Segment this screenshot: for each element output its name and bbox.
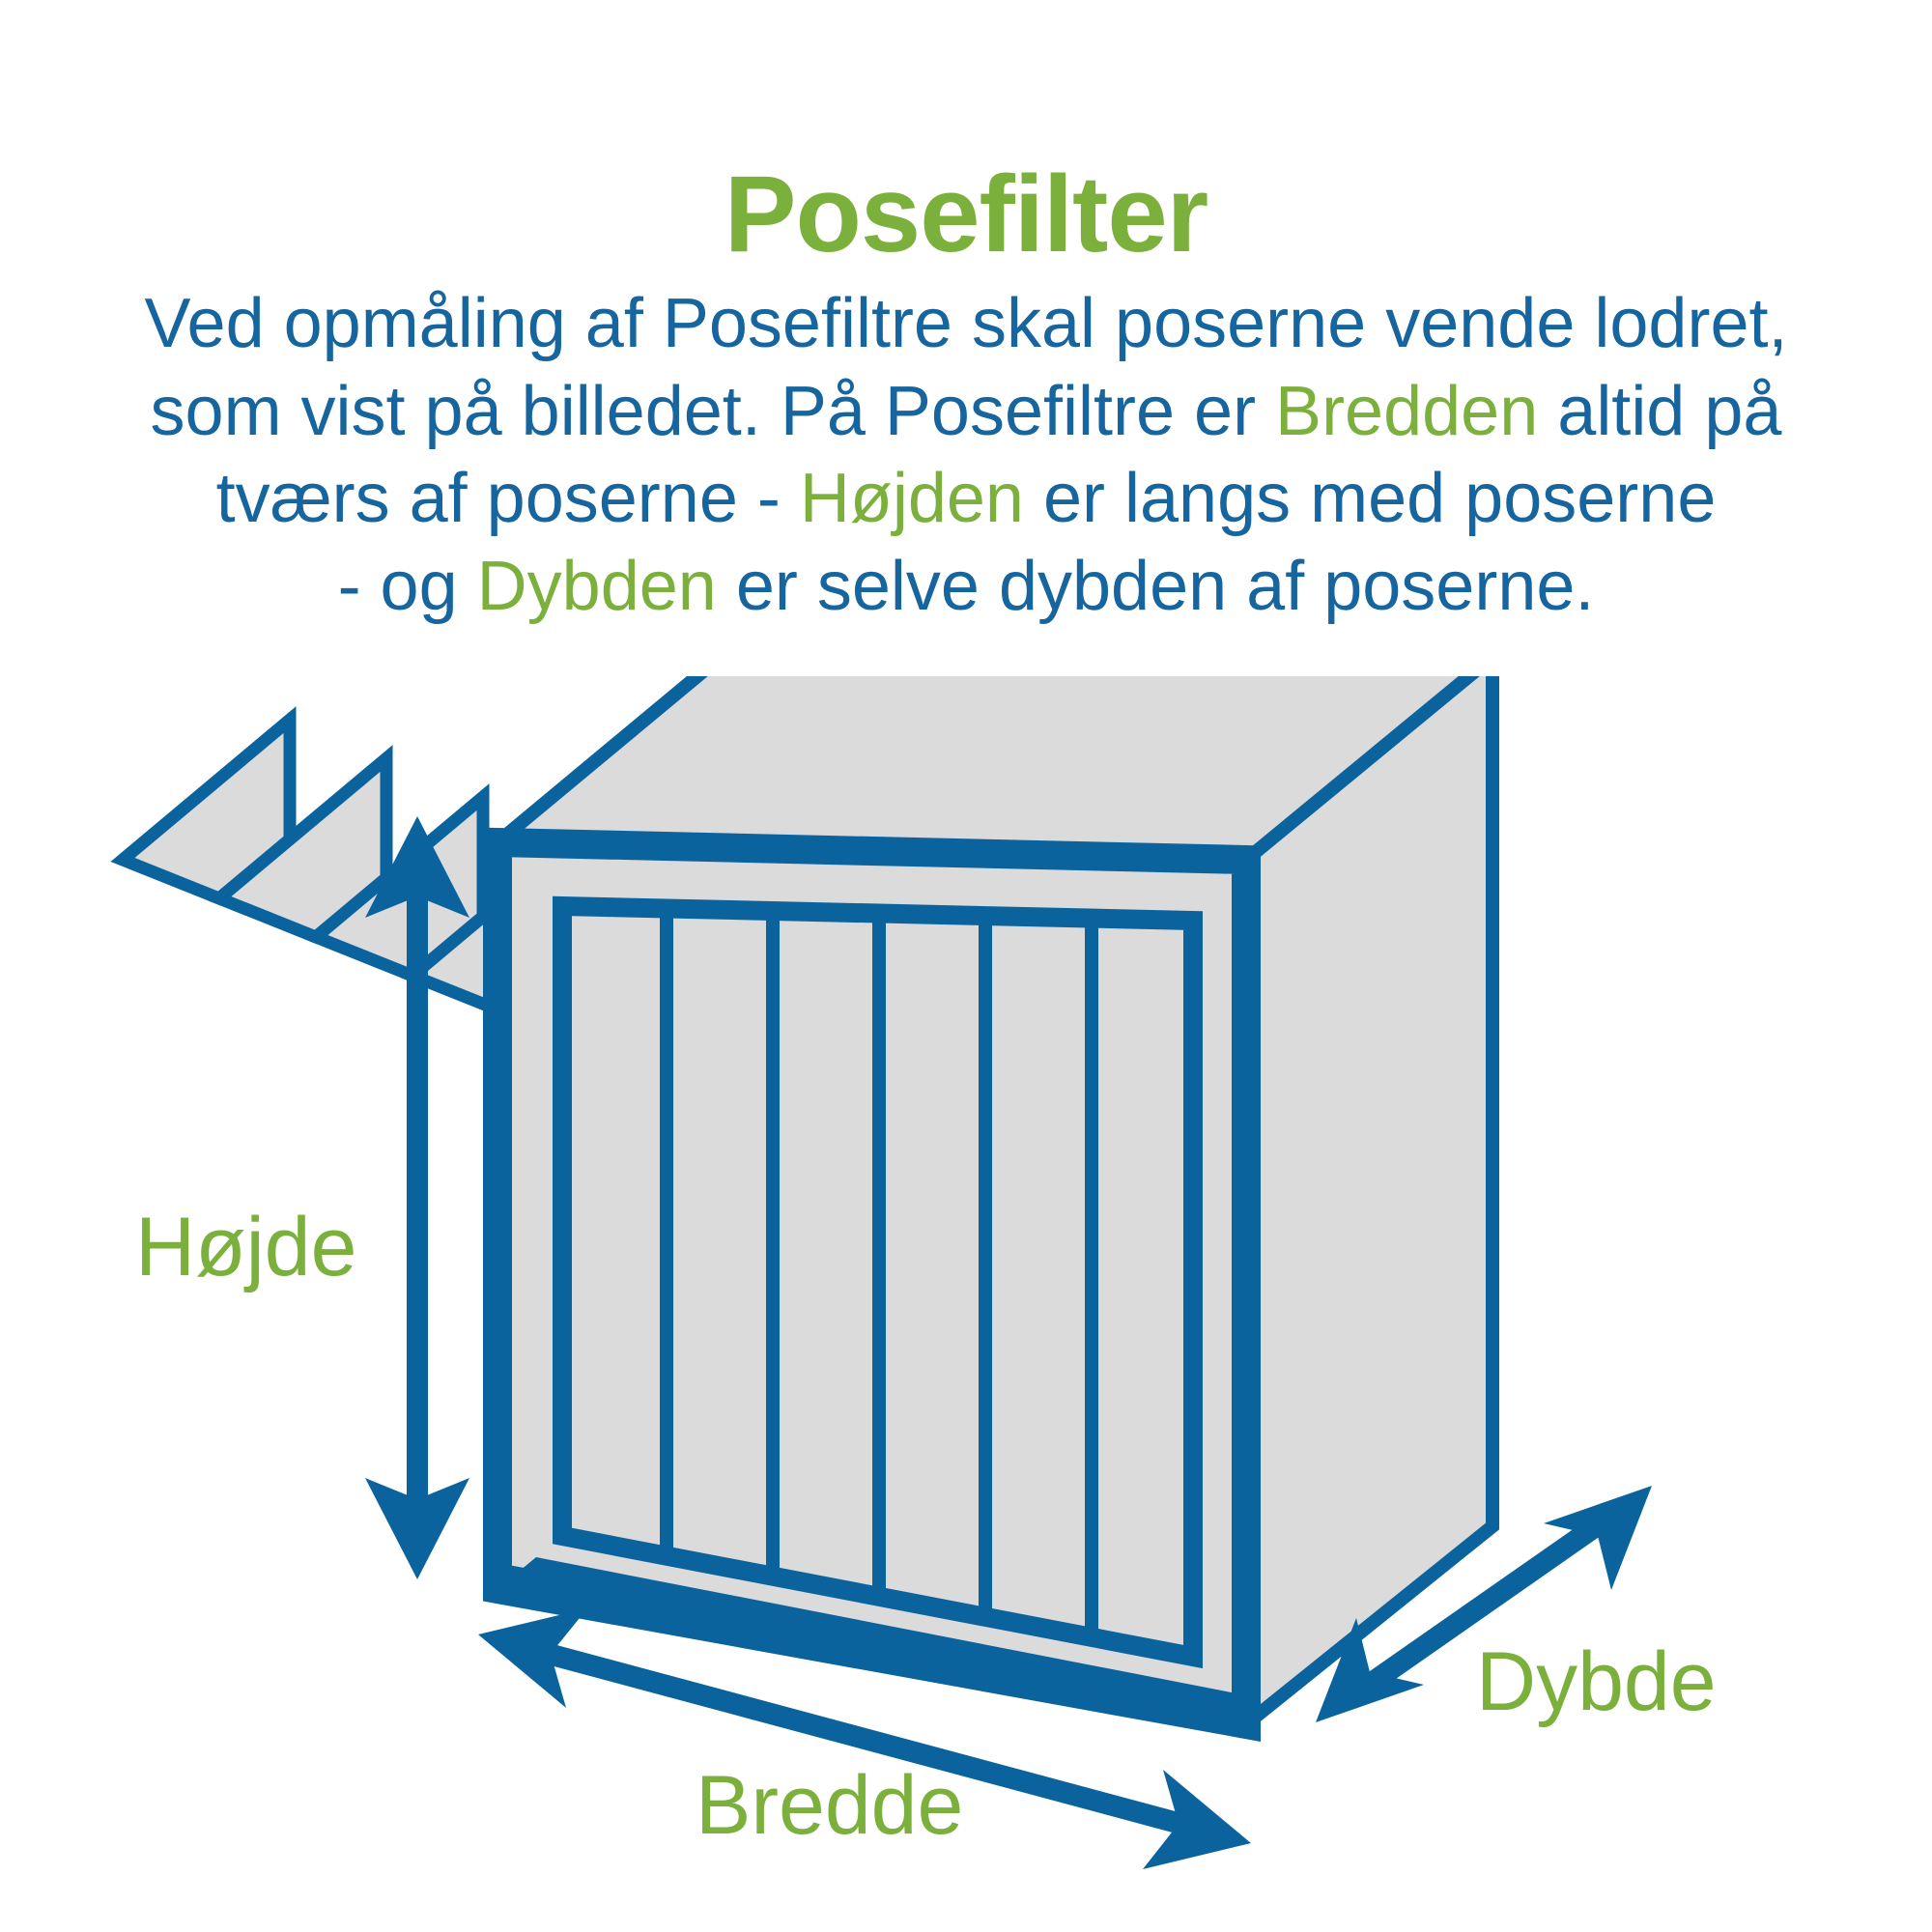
intro-line-1-text: Ved opmåling af Posefiltre skal poserne … — [144, 285, 1787, 362]
keyword-hojden: Højden — [800, 460, 1024, 537]
intro-line-3-text-b: er langs med poserne — [1024, 460, 1716, 537]
intro-paragraph: Ved opmåling af Posefiltre skal poserne … — [87, 280, 1845, 631]
poster-root: Posefilter Ved opmåling af Posefiltre sk… — [0, 0, 1932, 1932]
intro-line-2-text-a: som vist på billedet. På Posefiltre er — [151, 373, 1276, 450]
intro-line-3-text-a: tværs af poserne - — [216, 460, 800, 537]
filter-body-group — [483, 676, 1492, 1739]
intro-line-4-text-a: - og — [338, 548, 477, 625]
keyword-dybden: Dybden — [477, 548, 717, 625]
bag-filter-svg: Højde Bredde Dybde — [0, 676, 1932, 1932]
label-hojde: Højde — [135, 1201, 356, 1293]
label-dybde: Dybde — [1476, 1635, 1717, 1728]
keyword-bredden: Bredden — [1275, 373, 1538, 450]
bag-filter-diagram: Højde Bredde Dybde — [0, 676, 1932, 1932]
intro-line-4: - og Dybden er selve dybden af poserne. — [87, 543, 1845, 631]
intro-line-1: Ved opmåling af Posefiltre skal poserne … — [87, 280, 1845, 368]
label-bredde: Bredde — [696, 1759, 963, 1852]
intro-line-4-text-b: er selve dybden af poserne. — [717, 548, 1595, 625]
intro-line-3: tværs af poserne - Højden er langs med p… — [87, 455, 1845, 543]
intro-line-2: som vist på billedet. På Posefiltre er B… — [87, 368, 1845, 456]
page-title: Posefilter — [0, 157, 1932, 271]
intro-line-2-text-b: altid på — [1538, 373, 1781, 450]
